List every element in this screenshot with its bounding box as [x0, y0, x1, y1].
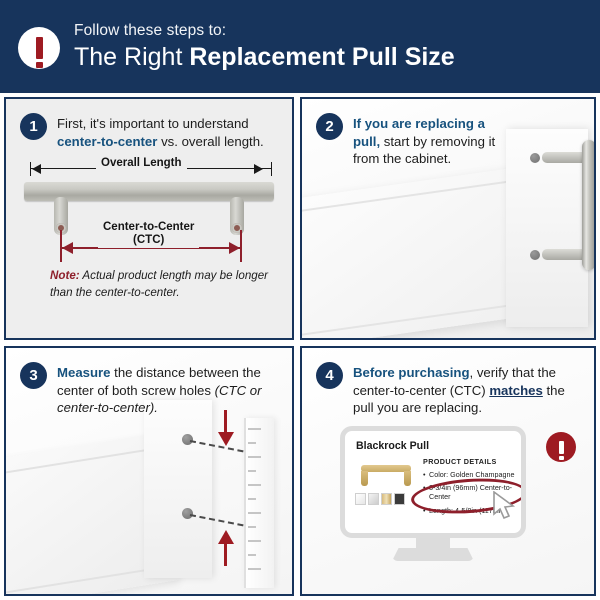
monitor-stand-base [392, 548, 474, 561]
measure-arrow-bottom-stem [224, 544, 227, 566]
step-1-head: 1 First, it's important to understand ce… [6, 99, 292, 150]
header-kicker: Follow these steps to: [74, 22, 455, 40]
screw-hole-bottom [530, 250, 540, 260]
product-handle-leg-left [361, 471, 368, 486]
monitor-stand-neck [416, 536, 450, 550]
product-title: Blackrock Pull [356, 440, 429, 452]
diagram-note: Note: Actual product length may be longe… [50, 268, 280, 302]
step-number-badge-1: 1 [20, 113, 47, 140]
exclamation-icon [18, 27, 60, 69]
thumbnail-3[interactable] [381, 493, 392, 505]
step-panel-4: 4 Before purchasing, verify that the cen… [300, 346, 596, 596]
step-1-highlight: center-to-center [57, 134, 157, 149]
exclamation-glyph [36, 37, 43, 59]
steps-grid: 1 First, it's important to understand ce… [0, 93, 600, 600]
overall-arrow-left [32, 164, 41, 174]
pull-post-right [230, 197, 244, 235]
product-details-heading: PRODUCT DETAILS [423, 457, 523, 466]
title-bold: Replacement Pull Size [189, 43, 454, 71]
step-3-head: 3 Measure the distance between the cente… [6, 348, 292, 417]
ctc-arrow-left [62, 242, 73, 254]
step-1-text-part1: First, it's important to understand [57, 116, 249, 131]
step-1-text-part2: vs. overall length. [157, 134, 263, 149]
overall-length-label: Overall Length [96, 157, 187, 169]
step-1-text: First, it's important to understand cent… [57, 113, 280, 150]
monitor-screen: Blackrock Pull PRODUCT DETAILS [340, 426, 526, 538]
note-label: Note: [50, 269, 80, 282]
thumbnail-4[interactable] [394, 493, 405, 505]
ctc-label-line1: Center-to-Center [103, 221, 194, 234]
product-thumbnails[interactable] [355, 493, 405, 505]
product-image [358, 462, 414, 488]
ctc-label-line2: (CTC) [103, 234, 194, 247]
exclamation-glyph [559, 441, 564, 454]
product-handle-leg-right [404, 471, 411, 486]
step-3-highlight: Measure [57, 365, 111, 380]
step-panel-3: 3 Measure the distance between the cente… [4, 346, 294, 596]
step-panel-1: 1 First, it's important to understand ce… [4, 97, 294, 340]
step-4-text: Before purchasing, verify that the cente… [353, 362, 578, 417]
header-banner: Follow these steps to: The Right Replace… [0, 0, 600, 93]
step-number-badge-3: 3 [20, 362, 47, 389]
step-panel-2: 2 If you are replacing a pull, start by … [300, 97, 596, 340]
ctc-tick-right [240, 230, 242, 262]
overall-arrow-right [254, 164, 263, 174]
cabinet-face-panel-3 [144, 400, 212, 578]
ctc-label: Center-to-Center (CTC) [98, 221, 199, 247]
note-text: Actual product length may be longer than… [50, 269, 268, 299]
matches-link[interactable]: matches [489, 383, 543, 398]
step-number-badge-4: 4 [316, 362, 343, 389]
measure-arrow-bottom [218, 530, 234, 544]
thumbnail-2[interactable] [368, 493, 379, 505]
infographic-root: Follow these steps to: The Right Replace… [0, 0, 600, 600]
step-number-badge-2: 2 [316, 113, 343, 140]
page-title: The Right Replacement Pull Size [74, 43, 455, 72]
ruler-icon [244, 418, 274, 588]
monitor-graphic: Blackrock Pull PRODUCT DETAILS [340, 426, 526, 554]
step-2-text: If you are replacing a pull, start by re… [353, 113, 513, 168]
exclamation-icon [546, 432, 576, 462]
step-2-head: 2 If you are replacing a pull, start by … [302, 99, 594, 168]
step-4-head: 4 Before purchasing, verify that the cen… [302, 348, 594, 417]
header-text-block: Follow these steps to: The Right Replace… [74, 22, 455, 72]
ctc-arrow-right [229, 242, 240, 254]
pull-dimension-diagram: Overall Length Center-to-Center (CTC) No… [24, 164, 274, 304]
overall-tick-right [271, 162, 272, 176]
measure-arrow-top [218, 432, 234, 446]
cabinet-door-open [300, 167, 522, 340]
step-3-text: Measure the distance between the center … [57, 362, 280, 417]
thumbnail-1[interactable] [355, 493, 366, 505]
step-4-highlight: Before purchasing [353, 365, 470, 380]
title-light: The Right [74, 43, 189, 71]
